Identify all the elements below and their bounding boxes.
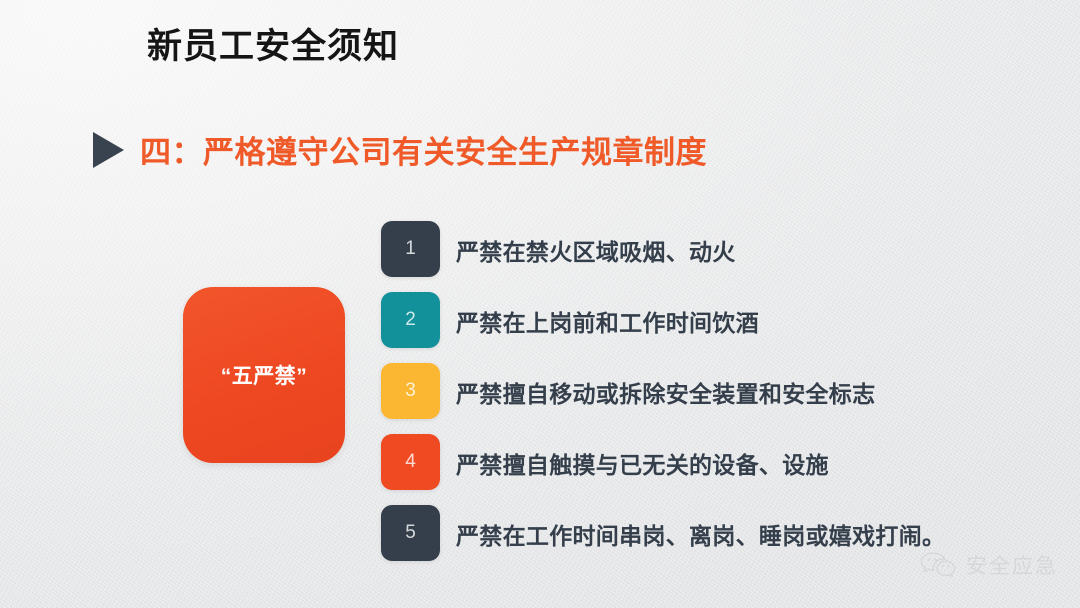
rule-text: 严禁擅自触摸与已无关的设备、设施 — [456, 446, 829, 480]
rule-row: 3严禁擅自移动或拆除安全装置和安全标志 — [381, 363, 945, 419]
watermark-label: 安全应急 — [966, 550, 1058, 580]
rule-row: 2严禁在上岗前和工作时间饮酒 — [381, 292, 945, 348]
rule-row: 5严禁在工作时间串岗、离岗、睡岗或嬉戏打闹。 — [381, 505, 945, 561]
callout-label: “五严禁” — [221, 360, 308, 390]
rule-number-badge: 5 — [381, 505, 440, 561]
rule-number-badge: 4 — [381, 434, 440, 490]
rule-text: 严禁在禁火区域吸烟、动火 — [456, 233, 736, 267]
rule-number-badge: 3 — [381, 363, 440, 419]
slide-canvas: 新员工安全须知 四：严格遵守公司有关安全生产规章制度 “五严禁” 1严禁在禁火区… — [0, 0, 1080, 608]
rule-row: 1严禁在禁火区域吸烟、动火 — [381, 221, 945, 277]
wechat-icon — [919, 551, 957, 579]
rule-text: 严禁在上岗前和工作时间饮酒 — [456, 304, 759, 338]
section-heading: 四：严格遵守公司有关安全生产规章制度 — [93, 127, 707, 172]
watermark: 安全应急 — [919, 550, 1058, 580]
triangle-right-icon — [93, 132, 124, 168]
rule-number-badge: 1 — [381, 221, 440, 277]
page-title: 新员工安全须知 — [147, 25, 399, 69]
rule-text: 严禁擅自移动或拆除安全装置和安全标志 — [456, 375, 875, 409]
rule-number-badge: 2 — [381, 292, 440, 348]
rule-row: 4严禁擅自触摸与已无关的设备、设施 — [381, 434, 945, 490]
section-heading-label: 四：严格遵守公司有关安全生产规章制度 — [140, 127, 707, 172]
rules-list: 1严禁在禁火区域吸烟、动火2严禁在上岗前和工作时间饮酒3严禁擅自移动或拆除安全装… — [381, 221, 945, 561]
rule-text: 严禁在工作时间串岗、离岗、睡岗或嬉戏打闹。 — [456, 517, 945, 551]
callout-box: “五严禁” — [183, 287, 345, 463]
